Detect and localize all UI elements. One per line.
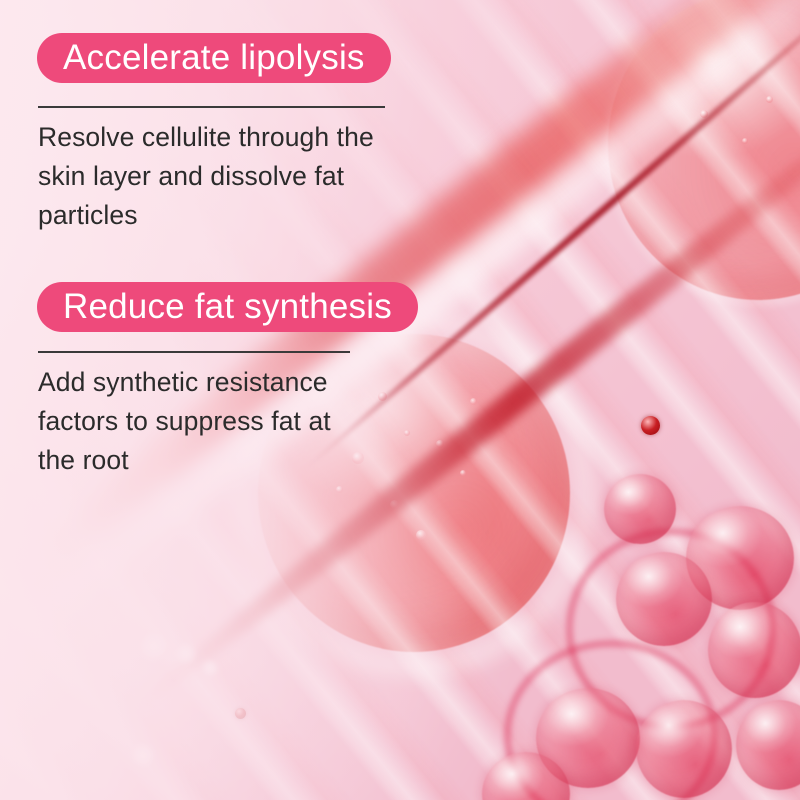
- body-text-block-1: Resolve cellulite through the skin layer…: [38, 118, 438, 235]
- badge-accelerate-lipolysis: Accelerate lipolysis: [37, 33, 391, 83]
- divider-line-2: [38, 351, 350, 353]
- badge-reduce-fat-synthesis: Reduce fat synthesis: [37, 282, 418, 332]
- promo-poster: Accelerate lipolysis Resolve cellulite t…: [0, 0, 800, 800]
- body-text-block-2: Add synthetic resistance factors to supp…: [38, 363, 438, 480]
- divider-line-1: [38, 106, 385, 108]
- poster-content: Accelerate lipolysis Resolve cellulite t…: [0, 0, 800, 800]
